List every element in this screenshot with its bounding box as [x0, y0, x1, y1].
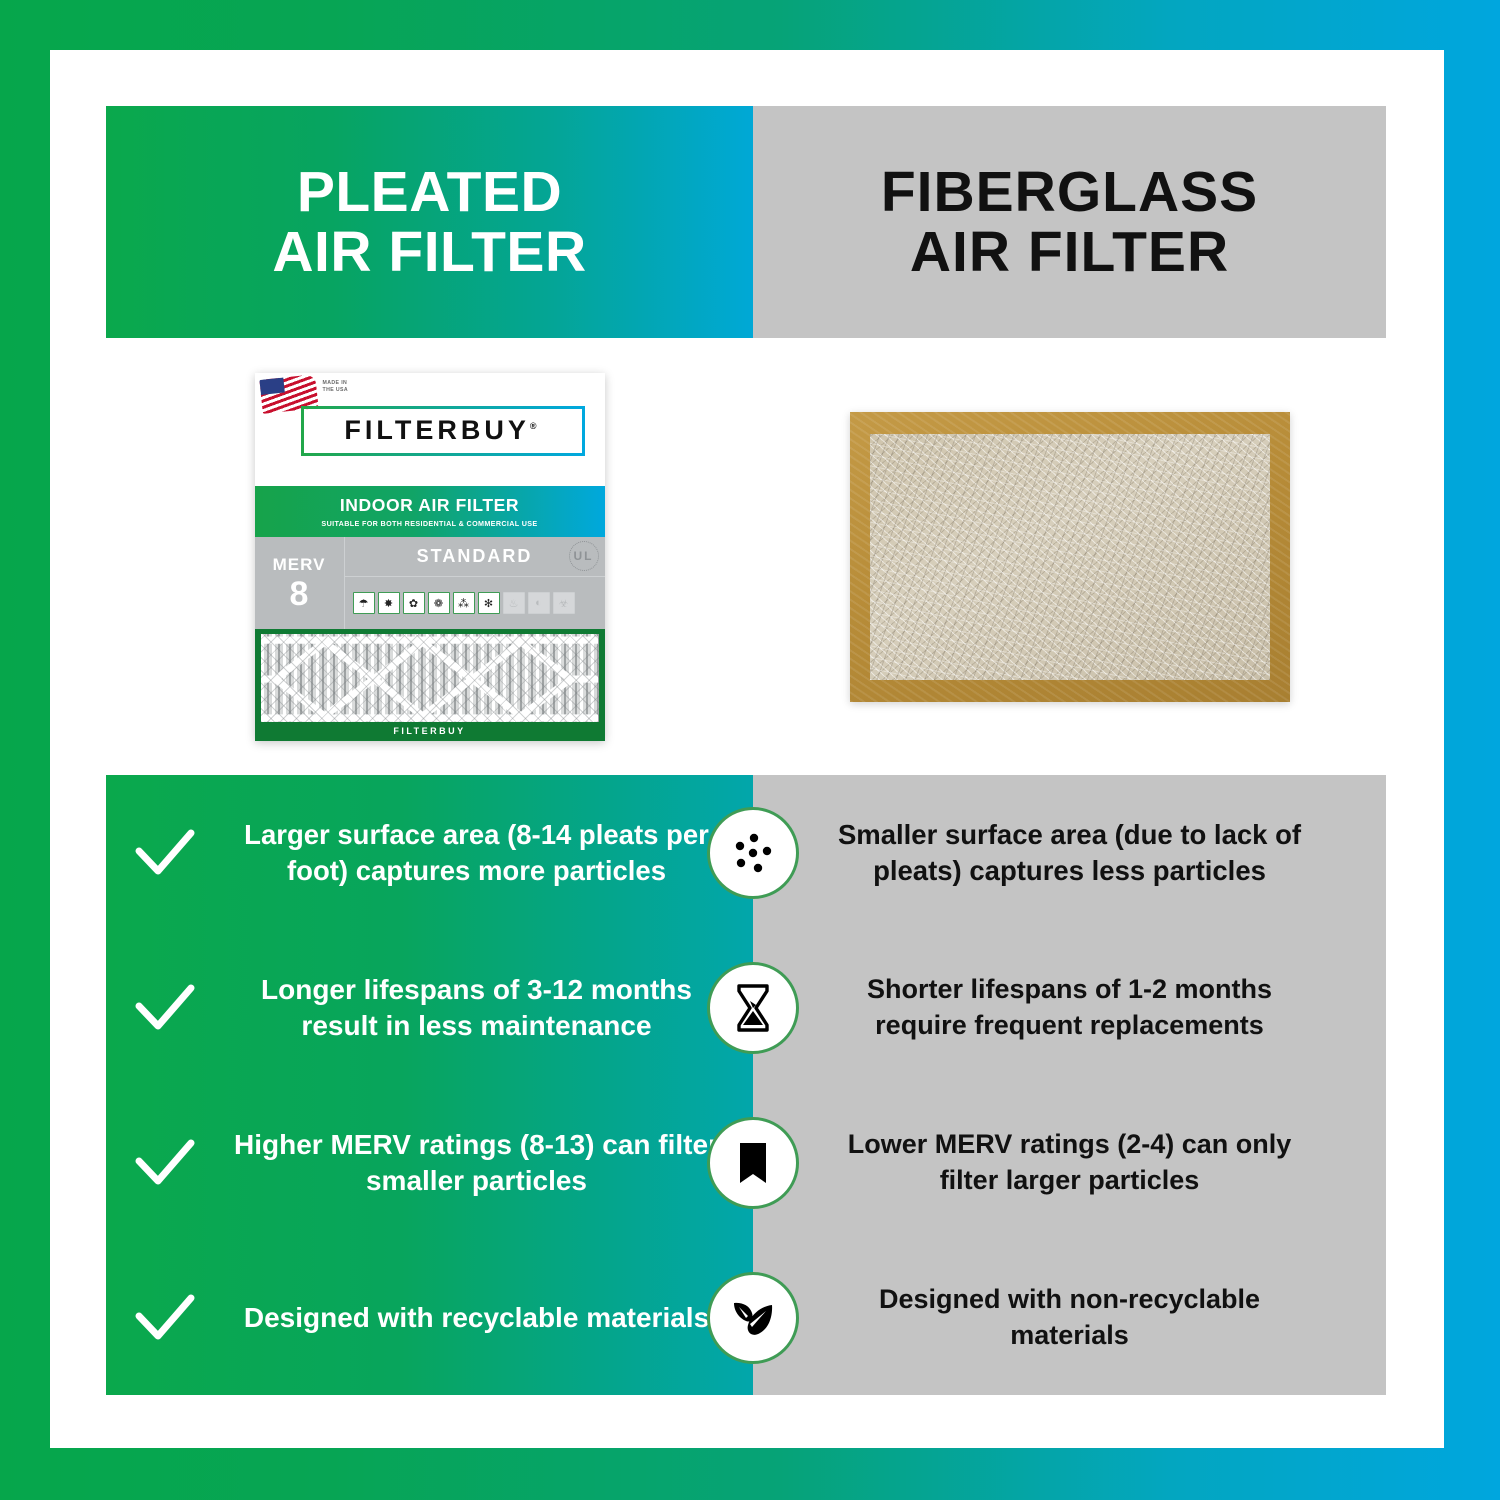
smoke-icon: ♨ — [503, 592, 525, 614]
infographic-sheet: PLEATED AIR FILTER FIBERGLASS AIR FILTER — [106, 106, 1386, 1396]
check-icon — [106, 1292, 224, 1344]
capture-icon-strip: ☂ ✸ ✿ ❁ ⁂ ✻ ♨ ◐ ☣ — [345, 577, 605, 629]
fiberglass-filter-art — [850, 412, 1290, 702]
pollen-icon: ✿ — [403, 592, 425, 614]
pleat-texture — [261, 634, 599, 722]
lint-icon: ⁂ — [453, 592, 475, 614]
table-row: Higher MERV ratings (8-13) can filter sm… — [106, 1085, 1386, 1240]
grade-row: STANDARD UL — [345, 537, 605, 577]
row-1-fiberglass-text: Smaller surface area (due to lack of ple… — [790, 817, 1350, 889]
header-fiberglass-title: FIBERGLASS AIR FILTER — [881, 162, 1258, 283]
table-row: Designed with recyclable materials Desig… — [106, 1240, 1386, 1395]
row-1-pleated-cell: Larger surface area (8-14 pleats per foo… — [106, 775, 753, 930]
filterbuy-box-art: MADE IN THE USA FILTERBUY® INDOOR AIR FI… — [255, 373, 605, 741]
row-3-pleated-text: Higher MERV ratings (8-13) can filter sm… — [224, 1127, 753, 1199]
merv-label: MERV — [273, 555, 326, 575]
dust-lint-icon: ☂ — [353, 592, 375, 614]
row-1-pleated-text: Larger surface area (8-14 pleats per foo… — [224, 817, 753, 887]
row-2-fiberglass-text: Shorter lifespans of 1-2 months require … — [790, 972, 1350, 1042]
comparison-table: Larger surface area (8-14 pleats per foo… — [106, 775, 1386, 1396]
particles-icon — [707, 807, 799, 899]
table-row: Longer lifespans of 3-12 months result i… — [106, 930, 1386, 1085]
row-1-fiberglass-cell: Smaller surface area (due to lack of ple… — [753, 775, 1386, 930]
gradient-frame: PLEATED AIR FILTER FIBERGLASS AIR FILTER — [0, 0, 1500, 1500]
check-icon — [106, 827, 224, 879]
grade-block: STANDARD UL ☂ ✸ ✿ ❁ ⁂ ✻ — [345, 537, 605, 629]
merv-block: MERV 8 — [255, 537, 345, 629]
band-title: INDOOR AIR FILTER — [340, 495, 519, 516]
hourglass-icon — [707, 962, 799, 1054]
pleat-media-area: FILTERBUY — [255, 629, 605, 741]
row-2-fiberglass-cell: Shorter lifespans of 1-2 months require … — [753, 930, 1386, 1085]
ul-certification-icon: UL — [569, 541, 599, 571]
indoor-air-filter-band: INDOOR AIR FILTER SUITABLE FOR BOTH RESI… — [255, 486, 605, 537]
check-icon — [106, 1137, 224, 1189]
made-in-usa-label: MADE IN THE USA — [323, 380, 349, 396]
white-canvas: PLEATED AIR FILTER FIBERGLASS AIR FILTER — [50, 50, 1444, 1448]
brand-name: FILTERBUY® — [344, 415, 540, 446]
row-4-pleated-text: Designed with recyclable materials — [224, 1300, 753, 1336]
merv-value: 8 — [290, 577, 309, 611]
pleat-brand-label: FILTERBUY — [261, 722, 599, 736]
row-3-pleated-cell: Higher MERV ratings (8-13) can filter sm… — [106, 1085, 753, 1240]
row-4-fiberglass-cell: Designed with non-recyclable materials — [753, 1240, 1386, 1395]
spec-area: MERV 8 STANDARD UL ☂ ✸ — [255, 537, 605, 629]
fiberglass-mesh-texture — [870, 434, 1270, 680]
pleated-filter-photo-cell: MADE IN THE USA FILTERBUY® INDOOR AIR FI… — [106, 338, 753, 775]
row-2-pleated-cell: Longer lifespans of 3-12 months result i… — [106, 930, 753, 1085]
header-band: PLEATED AIR FILTER FIBERGLASS AIR FILTER — [106, 106, 1386, 338]
table-row: Larger surface area (8-14 pleats per foo… — [106, 775, 1386, 930]
header-pleated-title: PLEATED AIR FILTER — [272, 162, 586, 283]
dust-mites-icon: ✸ — [378, 592, 400, 614]
pet-dander-icon: ✻ — [478, 592, 500, 614]
check-icon — [106, 982, 224, 1034]
virus-icon: ☣ — [553, 592, 575, 614]
header-fiberglass-line2: AIR FILTER — [910, 220, 1229, 284]
row-4-fiberglass-text: Designed with non-recyclable materials — [790, 1282, 1350, 1352]
fiberglass-filter-photo-cell — [753, 338, 1386, 775]
header-pleated-line1: PLEATED — [297, 160, 562, 224]
band-subtitle: SUITABLE FOR BOTH RESIDENTIAL & COMMERCI… — [321, 519, 537, 528]
row-3-fiberglass-cell: Lower MERV ratings (2-4) can only filter… — [753, 1085, 1386, 1240]
grade-label: STANDARD — [417, 546, 533, 567]
header-fiberglass: FIBERGLASS AIR FILTER — [753, 106, 1386, 338]
brand-logo: FILTERBUY® — [301, 406, 585, 456]
header-pleated: PLEATED AIR FILTER — [106, 106, 753, 338]
leaf-icon — [707, 1272, 799, 1364]
mold-icon: ❁ — [428, 592, 450, 614]
row-4-pleated-cell: Designed with recyclable materials — [106, 1240, 753, 1395]
row-3-fiberglass-text: Lower MERV ratings (2-4) can only filter… — [790, 1127, 1350, 1197]
bookmark-icon — [707, 1117, 799, 1209]
box-top: MADE IN THE USA FILTERBUY® — [255, 373, 605, 486]
bacteria-icon: ◐ — [528, 592, 550, 614]
header-fiberglass-line1: FIBERGLASS — [881, 160, 1258, 224]
support-grid-icon — [261, 634, 599, 722]
row-2-pleated-text: Longer lifespans of 3-12 months result i… — [224, 972, 753, 1044]
header-pleated-line2: AIR FILTER — [272, 220, 586, 284]
product-image-row: MADE IN THE USA FILTERBUY® INDOOR AIR FI… — [106, 338, 1386, 775]
